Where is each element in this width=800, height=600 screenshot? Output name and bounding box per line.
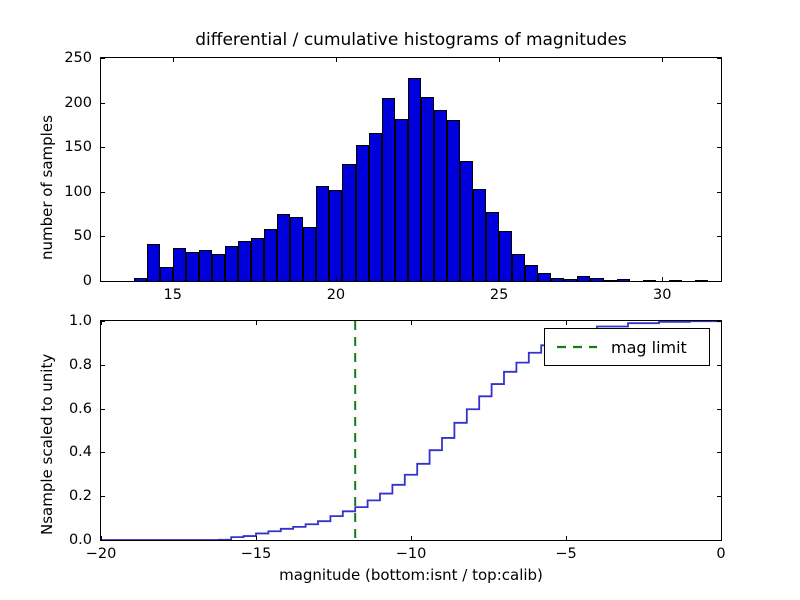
bottom-axis-y-ticklabel: 0.2: [40, 488, 92, 504]
histogram-bar: [577, 276, 590, 281]
matplotlib-figure: differential / cumulative histograms of …: [0, 0, 800, 600]
legend-label-mag-limit: mag limit: [611, 338, 687, 357]
histogram-bar: [264, 229, 277, 281]
bottom-axis-y-tick: [717, 496, 721, 497]
bottom-axis-y-tick: [101, 409, 105, 410]
bottom-axis-x-ticklabel: −20: [86, 546, 117, 562]
histogram-bar: [303, 227, 316, 281]
bottom-axis-y-tick: [717, 321, 721, 322]
top-axis-x-tick: [499, 277, 500, 281]
histogram-bar: [147, 244, 160, 281]
top-axis-y-tick: [717, 192, 721, 193]
histogram-bar: [590, 278, 603, 281]
bottom-axis-x-ticklabel: −5: [555, 546, 576, 562]
bottom-axis-y-tick: [101, 365, 105, 366]
bottom-axis-y-ticklabel: 1.0: [40, 313, 92, 329]
bottom-axis-y-ticklabel: 0.8: [40, 357, 92, 373]
histogram-bar: [160, 267, 173, 281]
histogram-bar: [525, 265, 538, 281]
histogram-bar: [604, 280, 617, 281]
top-axis-x-ticklabel: 15: [164, 287, 182, 303]
figure-title: differential / cumulative histograms of …: [100, 30, 722, 50]
top-axis-y-tick: [717, 103, 721, 104]
top-axis-y-tick: [717, 147, 721, 148]
histogram-bar: [473, 189, 486, 281]
legend[interactable]: mag limit: [544, 328, 710, 366]
top-axis-y-ticklabel: 200: [40, 95, 92, 111]
histogram-bar: [251, 238, 264, 281]
histogram-bar: [617, 279, 630, 281]
bottom-axis-x-ticklabel: −15: [241, 546, 272, 562]
top-axis-y-tick: [101, 192, 105, 193]
histogram-bar: [695, 280, 708, 281]
bottom-axis-x-tick: [256, 536, 257, 540]
bottom-axis-x-tick: [411, 321, 412, 325]
histogram-bar: [316, 186, 329, 281]
histogram-bar: [329, 190, 342, 281]
histogram-bar: [225, 246, 238, 281]
bottom-axis-y-tick: [101, 452, 105, 453]
bottom-axis-x-ticklabel: 0: [716, 546, 725, 562]
histogram-bar: [643, 280, 656, 281]
histogram-bar: [186, 252, 199, 281]
bottom-axis-y-tick: [717, 365, 721, 366]
histogram-bar: [421, 97, 434, 281]
differential-histogram-axes: [100, 57, 722, 282]
histogram-bar: [277, 214, 290, 281]
bottom-axis-y-tick: [101, 496, 105, 497]
top-axis-y-tick: [101, 58, 105, 59]
bottom-axis-y-ticklabel: 0.4: [40, 444, 92, 460]
top-axis-y-ticklabel: 150: [40, 139, 92, 155]
bottom-axis-x-tick: [566, 536, 567, 540]
top-axis-y-tick: [717, 58, 721, 59]
bottom-axis-x-label: magnitude (bottom:isnt / top:calib): [100, 566, 722, 584]
bottom-axis-y-tick: [717, 409, 721, 410]
histogram-bar: [408, 78, 421, 281]
top-axis-y-ticklabel: 0: [40, 273, 92, 289]
differential-histogram-plot-area: [101, 58, 721, 281]
histogram-bar: [447, 120, 460, 281]
bottom-axis-x-tick: [411, 536, 412, 540]
bottom-axis-x-ticklabel: −10: [396, 546, 427, 562]
top-axis-x-tick: [336, 277, 337, 281]
histogram-bar: [199, 250, 212, 281]
histogram-bar: [538, 273, 551, 281]
histogram-bar: [238, 241, 251, 281]
histogram-bar: [342, 164, 355, 281]
top-axis-y-ticklabel: 100: [40, 184, 92, 200]
histogram-bar: [512, 254, 525, 281]
histogram-bar: [356, 145, 369, 281]
histogram-bar: [369, 133, 382, 281]
bottom-axis-x-tick: [566, 321, 567, 325]
bottom-axis-y-ticklabel: 0.6: [40, 401, 92, 417]
histogram-bar: [669, 280, 682, 281]
top-axis-x-tick: [499, 58, 500, 62]
histogram-bar: [564, 279, 577, 281]
top-axis-y-tick: [101, 103, 105, 104]
top-axis-y-ticklabel: 50: [40, 228, 92, 244]
top-axis-y-tick: [717, 236, 721, 237]
histogram-bar: [551, 278, 564, 281]
histogram-bar: [290, 217, 303, 281]
bottom-axis-y-ticklabel: 0.0: [40, 532, 92, 548]
histogram-bar: [395, 119, 408, 281]
top-axis-y-ticklabel: 250: [40, 50, 92, 66]
bottom-axis-y-tick: [101, 321, 105, 322]
top-axis-x-tick: [336, 58, 337, 62]
top-axis-x-tick: [173, 58, 174, 62]
top-axis-x-ticklabel: 20: [327, 287, 345, 303]
histogram-bar: [382, 98, 395, 281]
bottom-axis-x-tick: [256, 321, 257, 325]
mag-limit-legend-line-icon: [555, 340, 599, 354]
bottom-axis-y-tick: [717, 452, 721, 453]
histogram-bar: [212, 254, 225, 281]
histogram-bar: [173, 248, 186, 281]
histogram-bar: [486, 212, 499, 281]
top-axis-x-tick: [662, 58, 663, 62]
top-axis-y-tick: [101, 236, 105, 237]
top-axis-x-tick: [662, 277, 663, 281]
top-axis-x-ticklabel: 30: [653, 287, 671, 303]
top-axis-x-ticklabel: 25: [490, 287, 508, 303]
histogram-bar: [460, 161, 473, 281]
histogram-bar: [499, 231, 512, 281]
histogram-bar: [434, 110, 447, 281]
top-axis-y-tick: [101, 147, 105, 148]
top-axis-x-tick: [173, 277, 174, 281]
histogram-bar: [134, 278, 147, 281]
